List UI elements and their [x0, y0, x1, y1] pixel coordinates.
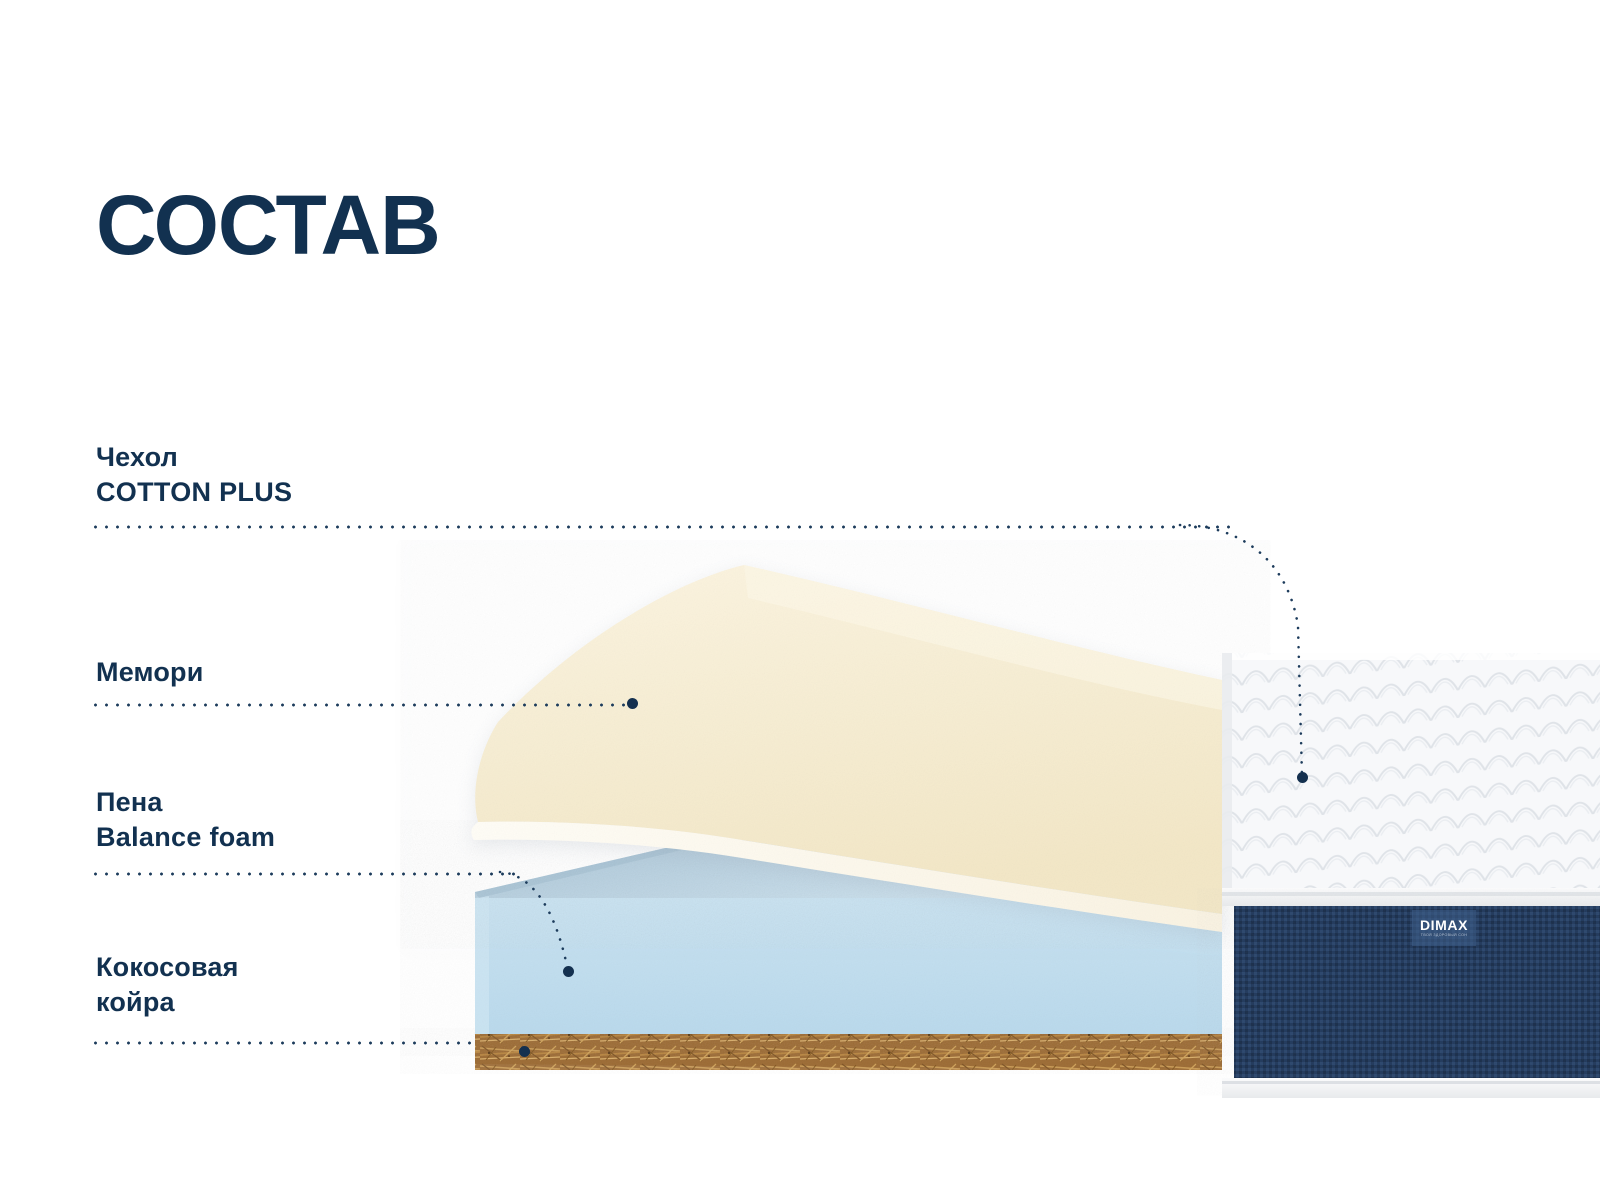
layer-side-panel — [1222, 906, 1600, 1098]
dimax-logo-text: DIMAX — [1420, 918, 1468, 932]
leader-curve-cover — [1180, 498, 1370, 798]
dimax-tagline: ТВОЙ ЗДОРОВЫЙ СОН — [1421, 933, 1467, 938]
label-coir: Кокосовая койра — [96, 950, 239, 1020]
leader-line-memory — [90, 703, 635, 707]
label-foam-line2: Balance foam — [96, 820, 275, 855]
leader-line-coir — [90, 1041, 475, 1045]
leader-line-cover — [90, 525, 1230, 529]
leader-curve-foam — [500, 860, 610, 985]
label-coir-line2: койра — [96, 985, 239, 1020]
leader-dot-foam — [563, 966, 574, 977]
leader-dot-coir — [519, 1046, 530, 1057]
label-cover-line1: Чехол — [96, 440, 292, 475]
page-title: СОСТАВ — [96, 183, 440, 267]
leader-dot-memory — [627, 698, 638, 709]
label-memory: Мемори — [96, 655, 204, 690]
layer-coir — [475, 1032, 1222, 1070]
label-foam: Пена Balance foam — [96, 785, 275, 855]
label-memory-line1: Мемори — [96, 655, 204, 690]
label-foam-line1: Пена — [96, 785, 275, 820]
label-cover-line2: COTTON PLUS — [96, 475, 292, 510]
leader-line-foam — [90, 872, 520, 876]
slide-canvas: СОСТАВ — [0, 0, 1600, 1200]
leader-dot-cover — [1297, 772, 1308, 783]
dimax-brand-tag: DIMAX ТВОЙ ЗДОРОВЫЙ СОН — [1412, 910, 1476, 946]
label-coir-line1: Кокосовая — [96, 950, 239, 985]
label-cover: Чехол COTTON PLUS — [96, 440, 292, 510]
